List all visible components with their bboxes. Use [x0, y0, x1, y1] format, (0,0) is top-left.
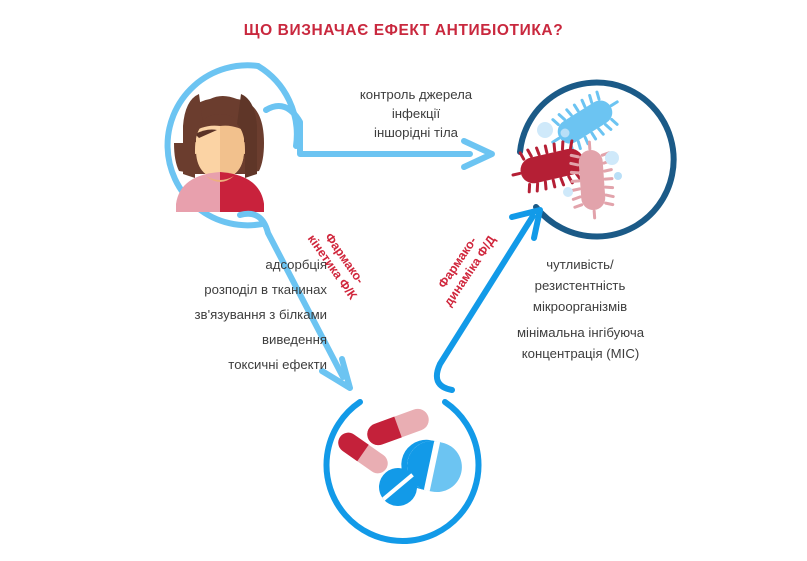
node-patient[interactable] — [168, 65, 297, 225]
label-infection-source-control: контроль джерела інфекції іншорідні тіла — [318, 85, 514, 142]
label-minimum-inhibitory-concentration: мінімальна інгібуюча концентрація (MIC) — [478, 322, 683, 364]
woman-avatar-icon — [174, 94, 264, 212]
pills-icon — [334, 406, 466, 514]
bacteria-icon — [508, 85, 628, 219]
infographic-canvas: ЩО ВИЗНАЧАЄ ЕФЕКТ АНТИБІОТИКА? — [0, 0, 807, 561]
label-susceptibility-resistance: чутливість/ резистентність мікроорганізм… — [490, 254, 670, 317]
node-drug[interactable] — [327, 402, 479, 541]
label-pharmacokinetics-list: адсорбція розподіл в тканинах зв'язуванн… — [95, 252, 327, 377]
